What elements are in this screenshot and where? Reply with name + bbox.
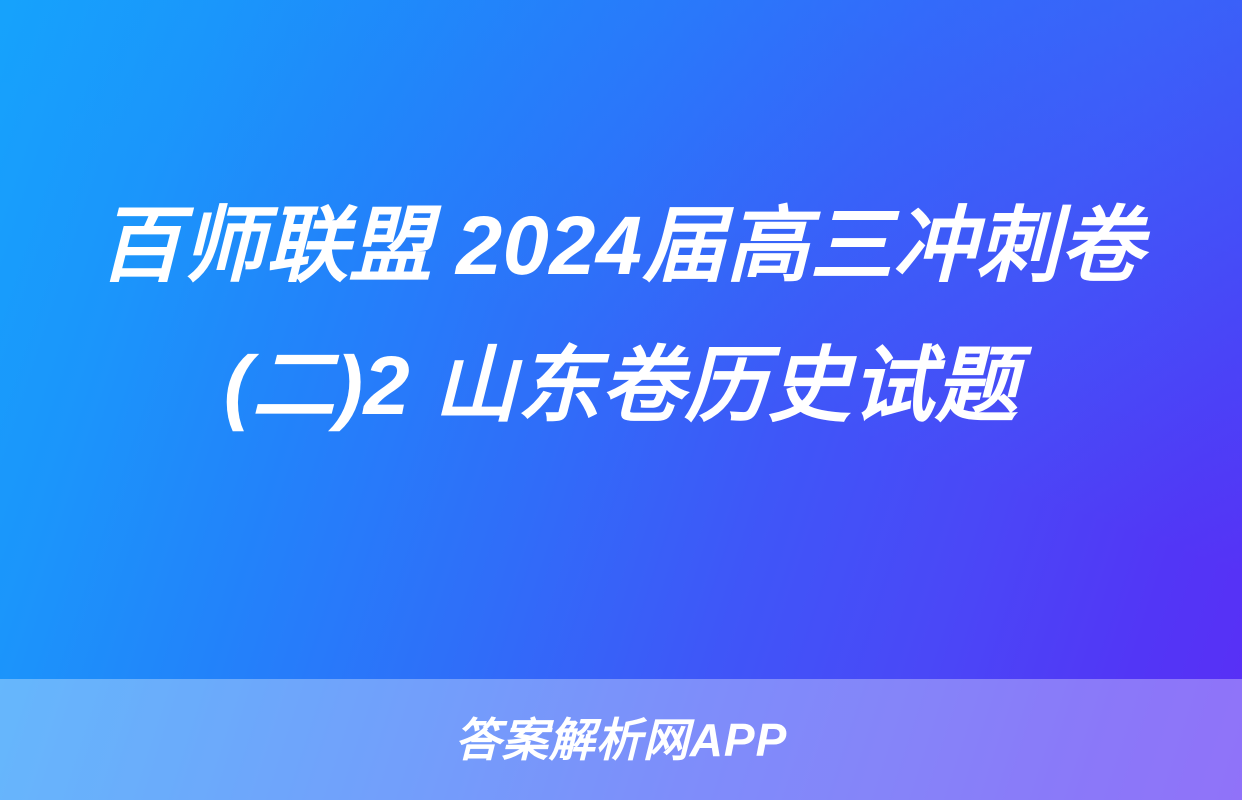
page-title: 百师联盟 2024届高三冲刺卷(二)2 山东卷历史试题 — [62, 176, 1180, 456]
watermark-text: 答案解析网APP — [455, 717, 788, 763]
cover-card: 百师联盟 2024届高三冲刺卷(二)2 山东卷历史试题 答案解析网APP — [0, 0, 1242, 800]
footer-watermark-band: 答案解析网APP — [0, 679, 1242, 800]
